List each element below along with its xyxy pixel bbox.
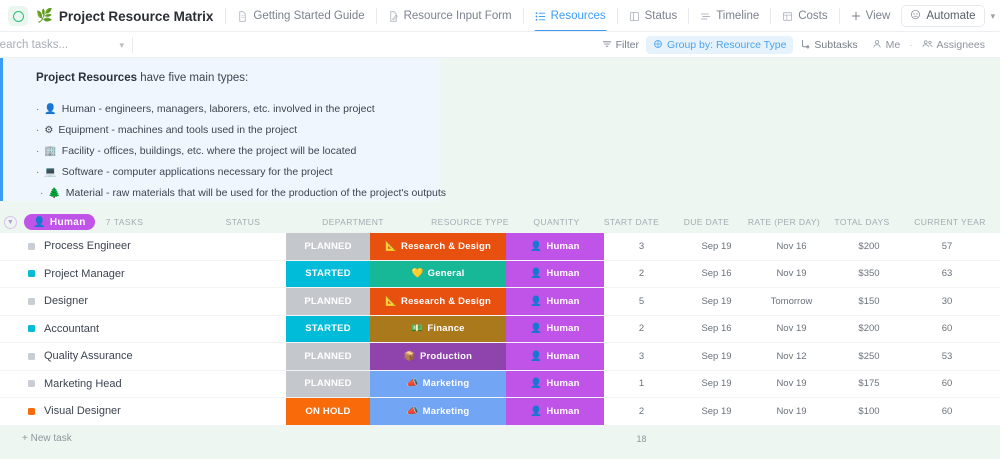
chevron-down-icon[interactable]: ▾ <box>119 40 132 51</box>
current-year-value[interactable]: $39,750 <box>985 343 1000 370</box>
rate-value[interactable]: $150 <box>829 288 909 315</box>
table-icon <box>782 11 793 22</box>
department-badge[interactable]: 📣Marketing <box>370 398 506 425</box>
department-badge[interactable]: 📣Marketing <box>370 371 506 398</box>
separator-dot: · <box>907 40 914 51</box>
column-header-total-days[interactable]: TOTAL DAYS <box>824 217 900 227</box>
tab-resources[interactable]: Resources <box>524 0 617 32</box>
list-item: · 💻 Software - computer applications nec… <box>36 166 428 178</box>
list-item-label: Software - computer applications necessa… <box>62 166 333 178</box>
resource-type-badge[interactable]: 👤Human <box>506 261 604 288</box>
quantity-value[interactable]: 2 <box>604 316 679 343</box>
total-days-value[interactable]: 57 <box>909 233 985 260</box>
bullet-icon: · <box>40 188 43 199</box>
board-icon <box>629 11 640 22</box>
total-days-value[interactable]: 60 <box>909 371 985 398</box>
rate-value[interactable]: $175 <box>829 371 909 398</box>
group-pill[interactable]: 👤 Human <box>24 214 95 230</box>
footer-current-year-total: $187,050 <box>985 434 1000 444</box>
task-name-cell[interactable]: Designer <box>0 288 286 315</box>
list-item: · 🏢 Facility - offices, buildings, etc. … <box>36 145 428 157</box>
status-label: ON HOLD <box>305 406 350 417</box>
filter-label: Filter <box>616 39 639 51</box>
due-date-value[interactable]: Nov 19 <box>754 398 829 425</box>
resource-type-list: · 👤 Human - engineers, managers, laborer… <box>36 103 428 199</box>
resource-type-badge[interactable]: 👤Human <box>506 371 604 398</box>
page-title-label: Project Resource Matrix <box>59 9 214 24</box>
status-badge[interactable]: PLANNED <box>286 233 370 260</box>
tab-label: Getting Started Guide <box>253 10 364 22</box>
column-header-due-date[interactable]: DUE DATE <box>669 217 744 227</box>
start-date-value[interactable]: Sep 16 <box>679 261 754 288</box>
group-icon <box>653 39 663 52</box>
quantity-value[interactable]: 2 <box>604 261 679 288</box>
top-bar: 🌿 Project Resource Matrix Getting Starte… <box>0 0 1000 32</box>
task-name-label: Designer <box>44 295 88 307</box>
column-header-quantity[interactable]: QUANTITY <box>519 217 594 227</box>
footer-quantity-total: 18 <box>604 434 679 444</box>
department-label: Research & Design <box>401 241 491 252</box>
chevron-down-icon[interactable]: ▾ <box>985 11 996 22</box>
subtasks-icon <box>800 39 810 52</box>
task-name-cell[interactable]: Marketing Head <box>0 371 286 398</box>
status-badge[interactable]: PLANNED <box>286 343 370 370</box>
people-icon <box>922 39 933 52</box>
task-name-label: Marketing Head <box>44 378 122 390</box>
start-date-value[interactable]: Sep 19 <box>679 233 754 260</box>
start-date-value[interactable]: Sep 19 <box>679 343 754 370</box>
assignees-filter-button[interactable]: Assignees <box>915 36 992 54</box>
plus-icon <box>851 11 861 21</box>
status-dot-icon <box>28 270 35 277</box>
resource-type-badge[interactable]: 👤Human <box>506 343 604 370</box>
department-icon: 💛 <box>412 268 424 279</box>
group-pill-label: Human <box>50 217 86 228</box>
me-label: Me <box>886 39 901 51</box>
assignees-label: Assignees <box>937 39 985 51</box>
person-icon <box>872 39 882 52</box>
filter-button[interactable]: Filter <box>595 36 646 54</box>
department-badge[interactable]: 💛General <box>370 261 506 288</box>
resource-type-label: Human <box>546 378 579 389</box>
bullet-icon: · <box>36 125 39 136</box>
current-year-value[interactable]: $12,000 <box>985 398 1000 425</box>
page-title[interactable]: 🌿 Project Resource Matrix <box>36 8 225 24</box>
workspace-logo[interactable] <box>8 6 28 26</box>
table-footer: + New task 18 $187,050 <box>0 426 1000 452</box>
table-row[interactable]: Process EngineerPLANNED📐Research & Desig… <box>0 233 1000 261</box>
human-icon: 👤 <box>530 406 542 417</box>
quantity-value[interactable]: 3 <box>604 343 679 370</box>
department-icon: 💵 <box>411 323 423 334</box>
list-item-label: Material - raw materials that will be us… <box>66 187 446 199</box>
column-header-department[interactable]: DEPARTMENT <box>285 217 421 227</box>
table-row[interactable]: DesignerPLANNED📐Research & Design👤Human5… <box>0 288 1000 316</box>
task-name-cell[interactable]: Process Engineer <box>0 233 286 260</box>
facility-icon: 🏢 <box>44 146 56 157</box>
tab-label: Resources <box>551 10 606 22</box>
current-year-value[interactable]: $24,000 <box>985 316 1000 343</box>
rate-value[interactable]: $100 <box>829 398 909 425</box>
total-days-value[interactable]: 30 <box>909 288 985 315</box>
info-banner: Project Resources have five main types: … <box>0 58 440 201</box>
doc-icon <box>237 11 248 22</box>
list-item: · 🌲 Material - raw materials that will b… <box>40 187 428 199</box>
human-icon: 👤 <box>530 323 542 334</box>
table-row[interactable]: Quality AssurancePLANNED📦Production👤Huma… <box>0 343 1000 371</box>
divider <box>132 37 133 53</box>
department-label: Finance <box>427 323 464 334</box>
current-year-value[interactable]: $44,100 <box>985 261 1000 288</box>
status-label: PLANNED <box>304 378 351 389</box>
column-header-start-date[interactable]: START DATE <box>594 217 669 227</box>
status-dot-icon <box>28 298 35 305</box>
department-badge[interactable]: 💵Finance <box>370 316 506 343</box>
department-badge[interactable]: 📐Research & Design <box>370 288 506 315</box>
resource-type-badge[interactable]: 👤Human <box>506 398 604 425</box>
bullet-icon: · <box>36 167 39 178</box>
total-days-value[interactable]: 60 <box>909 316 985 343</box>
status-dot-icon <box>28 353 35 360</box>
tab-label: Timeline <box>716 10 759 22</box>
department-icon: 📣 <box>407 406 419 417</box>
start-date-value[interactable]: Sep 19 <box>679 371 754 398</box>
resource-type-badge[interactable]: 👤Human <box>506 288 604 315</box>
column-header-status[interactable]: STATUS <box>201 217 285 227</box>
tab-getting-started-guide[interactable]: Getting Started Guide <box>226 0 375 32</box>
due-date-value[interactable]: Nov 19 <box>754 316 829 343</box>
group-header-human[interactable]: ▼ 👤 Human 7 TASKS STATUS DEPARTMENT RESO… <box>0 211 1000 233</box>
resource-type-label: Human <box>546 241 579 252</box>
table-row[interactable]: Project ManagerSTARTED💛General👤Human2Sep… <box>0 261 1000 289</box>
department-label: Production <box>420 351 472 362</box>
due-date-value[interactable]: Nov 19 <box>754 261 829 288</box>
resource-table: ▼ 👤 Human 7 TASKS STATUS DEPARTMENT RESO… <box>0 211 1000 452</box>
current-year-value[interactable]: $34,200 <box>985 233 1000 260</box>
current-year-value[interactable]: $10,500 <box>985 371 1000 398</box>
due-date-value[interactable]: Tomorrow <box>754 288 829 315</box>
table-row[interactable]: Marketing HeadPLANNED📣Marketing👤Human1Se… <box>0 371 1000 399</box>
quantity-value[interactable]: 5 <box>604 288 679 315</box>
resource-type-badge[interactable]: 👤Human <box>506 316 604 343</box>
filter-icon <box>602 39 612 52</box>
total-days-value[interactable]: 63 <box>909 261 985 288</box>
current-year-value[interactable]: $22,500 <box>985 288 1000 315</box>
sprout-icon: 🌿 <box>36 8 53 24</box>
tab-label: Status <box>645 10 678 22</box>
rate-value[interactable]: $200 <box>829 316 909 343</box>
resource-type-label: Human <box>546 406 579 417</box>
resource-type-label: Human <box>546 351 579 362</box>
status-label: PLANNED <box>304 241 351 252</box>
department-label: Marketing <box>423 378 470 389</box>
quantity-value[interactable]: 2 <box>604 398 679 425</box>
sub-toolbar: Search tasks... ▾ Filter Group by: Resou… <box>0 32 1000 58</box>
column-header-current-year[interactable]: CURRENT YEAR <box>900 217 1000 227</box>
subtasks-label: Subtasks <box>814 39 857 51</box>
automate-button[interactable]: Automate <box>901 5 984 27</box>
bullet-icon: · <box>36 104 39 115</box>
group-task-count: 7 TASKS <box>106 217 144 227</box>
task-name-label: Process Engineer <box>44 240 131 252</box>
department-label: Marketing <box>423 406 470 417</box>
table-body: Process EngineerPLANNED📐Research & Desig… <box>0 233 1000 426</box>
task-name-label: Accountant <box>44 323 99 335</box>
status-badge[interactable]: PLANNED <box>286 371 370 398</box>
list-item: · 👤 Human - engineers, managers, laborer… <box>36 103 428 115</box>
add-view-label: View <box>866 10 891 22</box>
due-date-value[interactable]: Nov 16 <box>754 233 829 260</box>
department-label: General <box>428 268 465 279</box>
status-label: PLANNED <box>304 351 351 362</box>
table-row[interactable]: Visual DesignerON HOLD📣Marketing👤Human2S… <box>0 398 1000 426</box>
status-label: PLANNED <box>304 296 351 307</box>
task-name-label: Quality Assurance <box>44 350 133 362</box>
human-icon: 👤 <box>44 104 56 115</box>
department-icon: 📐 <box>385 241 397 252</box>
status-dot-icon <box>28 325 35 332</box>
equipment-icon: ⚙ <box>44 125 53 136</box>
new-task-button[interactable]: + New task <box>0 433 286 444</box>
subtasks-button[interactable]: Subtasks <box>793 36 864 54</box>
human-icon: 👤 <box>530 351 542 362</box>
department-badge[interactable]: 📦Production <box>370 343 506 370</box>
status-dot-icon <box>28 380 35 387</box>
status-badge[interactable]: ON HOLD <box>286 398 370 425</box>
status-dot-icon <box>28 243 35 250</box>
bullet-icon: · <box>36 146 39 157</box>
task-name-cell[interactable]: Accountant <box>0 316 286 343</box>
tab-status[interactable]: Status <box>618 0 689 32</box>
start-date-value[interactable]: Sep 19 <box>679 398 754 425</box>
quantity-value[interactable]: 1 <box>604 371 679 398</box>
human-icon: 👤 <box>33 217 46 228</box>
task-name-label: Visual Designer <box>44 405 121 417</box>
status-label: STARTED <box>305 323 351 334</box>
tab-timeline[interactable]: Timeline <box>689 0 770 32</box>
timeline-icon <box>700 11 711 22</box>
list-item: · ⚙ Equipment - machines and tools used … <box>36 124 428 136</box>
resource-type-label: Human <box>546 268 579 279</box>
tab-resource-input-form[interactable]: Resource Input Form <box>377 0 523 32</box>
search-input[interactable]: Search tasks... ▾ <box>0 39 132 51</box>
due-date-value[interactable]: Nov 19 <box>754 371 829 398</box>
tab-label: Costs <box>798 10 827 22</box>
list-item-label: Facility - offices, buildings, etc. wher… <box>62 145 357 157</box>
column-header-rate-per-day[interactable]: RATE (PER DAY) <box>744 217 824 227</box>
department-icon: 📣 <box>407 378 419 389</box>
status-label: STARTED <box>305 268 351 279</box>
human-icon: 👤 <box>530 378 542 389</box>
software-icon: 💻 <box>44 167 56 178</box>
search-placeholder: Search tasks... <box>0 39 119 51</box>
status-badge[interactable]: PLANNED <box>286 288 370 315</box>
tab-label: Resource Input Form <box>404 10 512 22</box>
banner-zone: Project Resources have five main types: … <box>0 58 1000 211</box>
status-dot-icon <box>28 408 35 415</box>
total-days-value[interactable]: 60 <box>909 398 985 425</box>
form-icon <box>388 11 399 22</box>
department-label: Research & Design <box>401 296 491 307</box>
status-badge[interactable]: STARTED <box>286 316 370 343</box>
robot-icon <box>910 9 921 23</box>
banner-heading-rest: have five main types: <box>137 72 248 84</box>
department-icon: 📐 <box>385 296 397 307</box>
add-view-button[interactable]: View <box>840 0 902 32</box>
human-icon: 👤 <box>530 296 542 307</box>
list-icon <box>535 11 546 22</box>
task-name-cell[interactable]: Project Manager <box>0 261 286 288</box>
rate-value[interactable]: $350 <box>829 261 909 288</box>
list-item-label: Human - engineers, managers, laborers, e… <box>62 103 375 115</box>
resource-type-badge[interactable]: 👤Human <box>506 233 604 260</box>
task-name-cell[interactable]: Quality Assurance <box>0 343 286 370</box>
list-item-label: Equipment - machines and tools used in t… <box>58 124 297 136</box>
resource-type-label: Human <box>546 296 579 307</box>
human-icon: 👤 <box>530 268 542 279</box>
group-by-button[interactable]: Group by: Resource Type <box>646 36 793 54</box>
due-date-value[interactable]: Nov 12 <box>754 343 829 370</box>
start-date-value[interactable]: Sep 16 <box>679 316 754 343</box>
material-icon: 🌲 <box>48 188 60 199</box>
column-header-resource-type[interactable]: RESOURCE TYPE <box>421 217 519 227</box>
status-badge[interactable]: STARTED <box>286 261 370 288</box>
human-icon: 👤 <box>530 241 542 252</box>
table-row[interactable]: AccountantSTARTED💵Finance👤Human2Sep 16No… <box>0 316 1000 344</box>
resource-type-label: Human <box>546 323 579 334</box>
total-days-value[interactable]: 53 <box>909 343 985 370</box>
chevron-down-icon[interactable]: ▼ <box>4 216 17 229</box>
automate-label: Automate <box>926 10 975 22</box>
department-badge[interactable]: 📐Research & Design <box>370 233 506 260</box>
task-name-label: Project Manager <box>44 268 125 280</box>
task-name-cell[interactable]: Visual Designer <box>0 398 286 425</box>
banner-heading: Project Resources have five main types: <box>36 72 428 84</box>
group-by-label: Group by: Resource Type <box>667 39 786 51</box>
banner-heading-bold: Project Resources <box>36 72 137 84</box>
quantity-value[interactable]: 3 <box>604 233 679 260</box>
column-headers: STATUS DEPARTMENT RESOURCE TYPE QUANTITY… <box>201 217 1000 227</box>
tab-costs[interactable]: Costs <box>771 0 838 32</box>
rate-value[interactable]: $200 <box>829 233 909 260</box>
start-date-value[interactable]: Sep 19 <box>679 288 754 315</box>
circle-icon <box>13 11 24 22</box>
me-filter-button[interactable]: Me <box>865 36 908 54</box>
department-icon: 📦 <box>404 351 416 362</box>
rate-value[interactable]: $250 <box>829 343 909 370</box>
